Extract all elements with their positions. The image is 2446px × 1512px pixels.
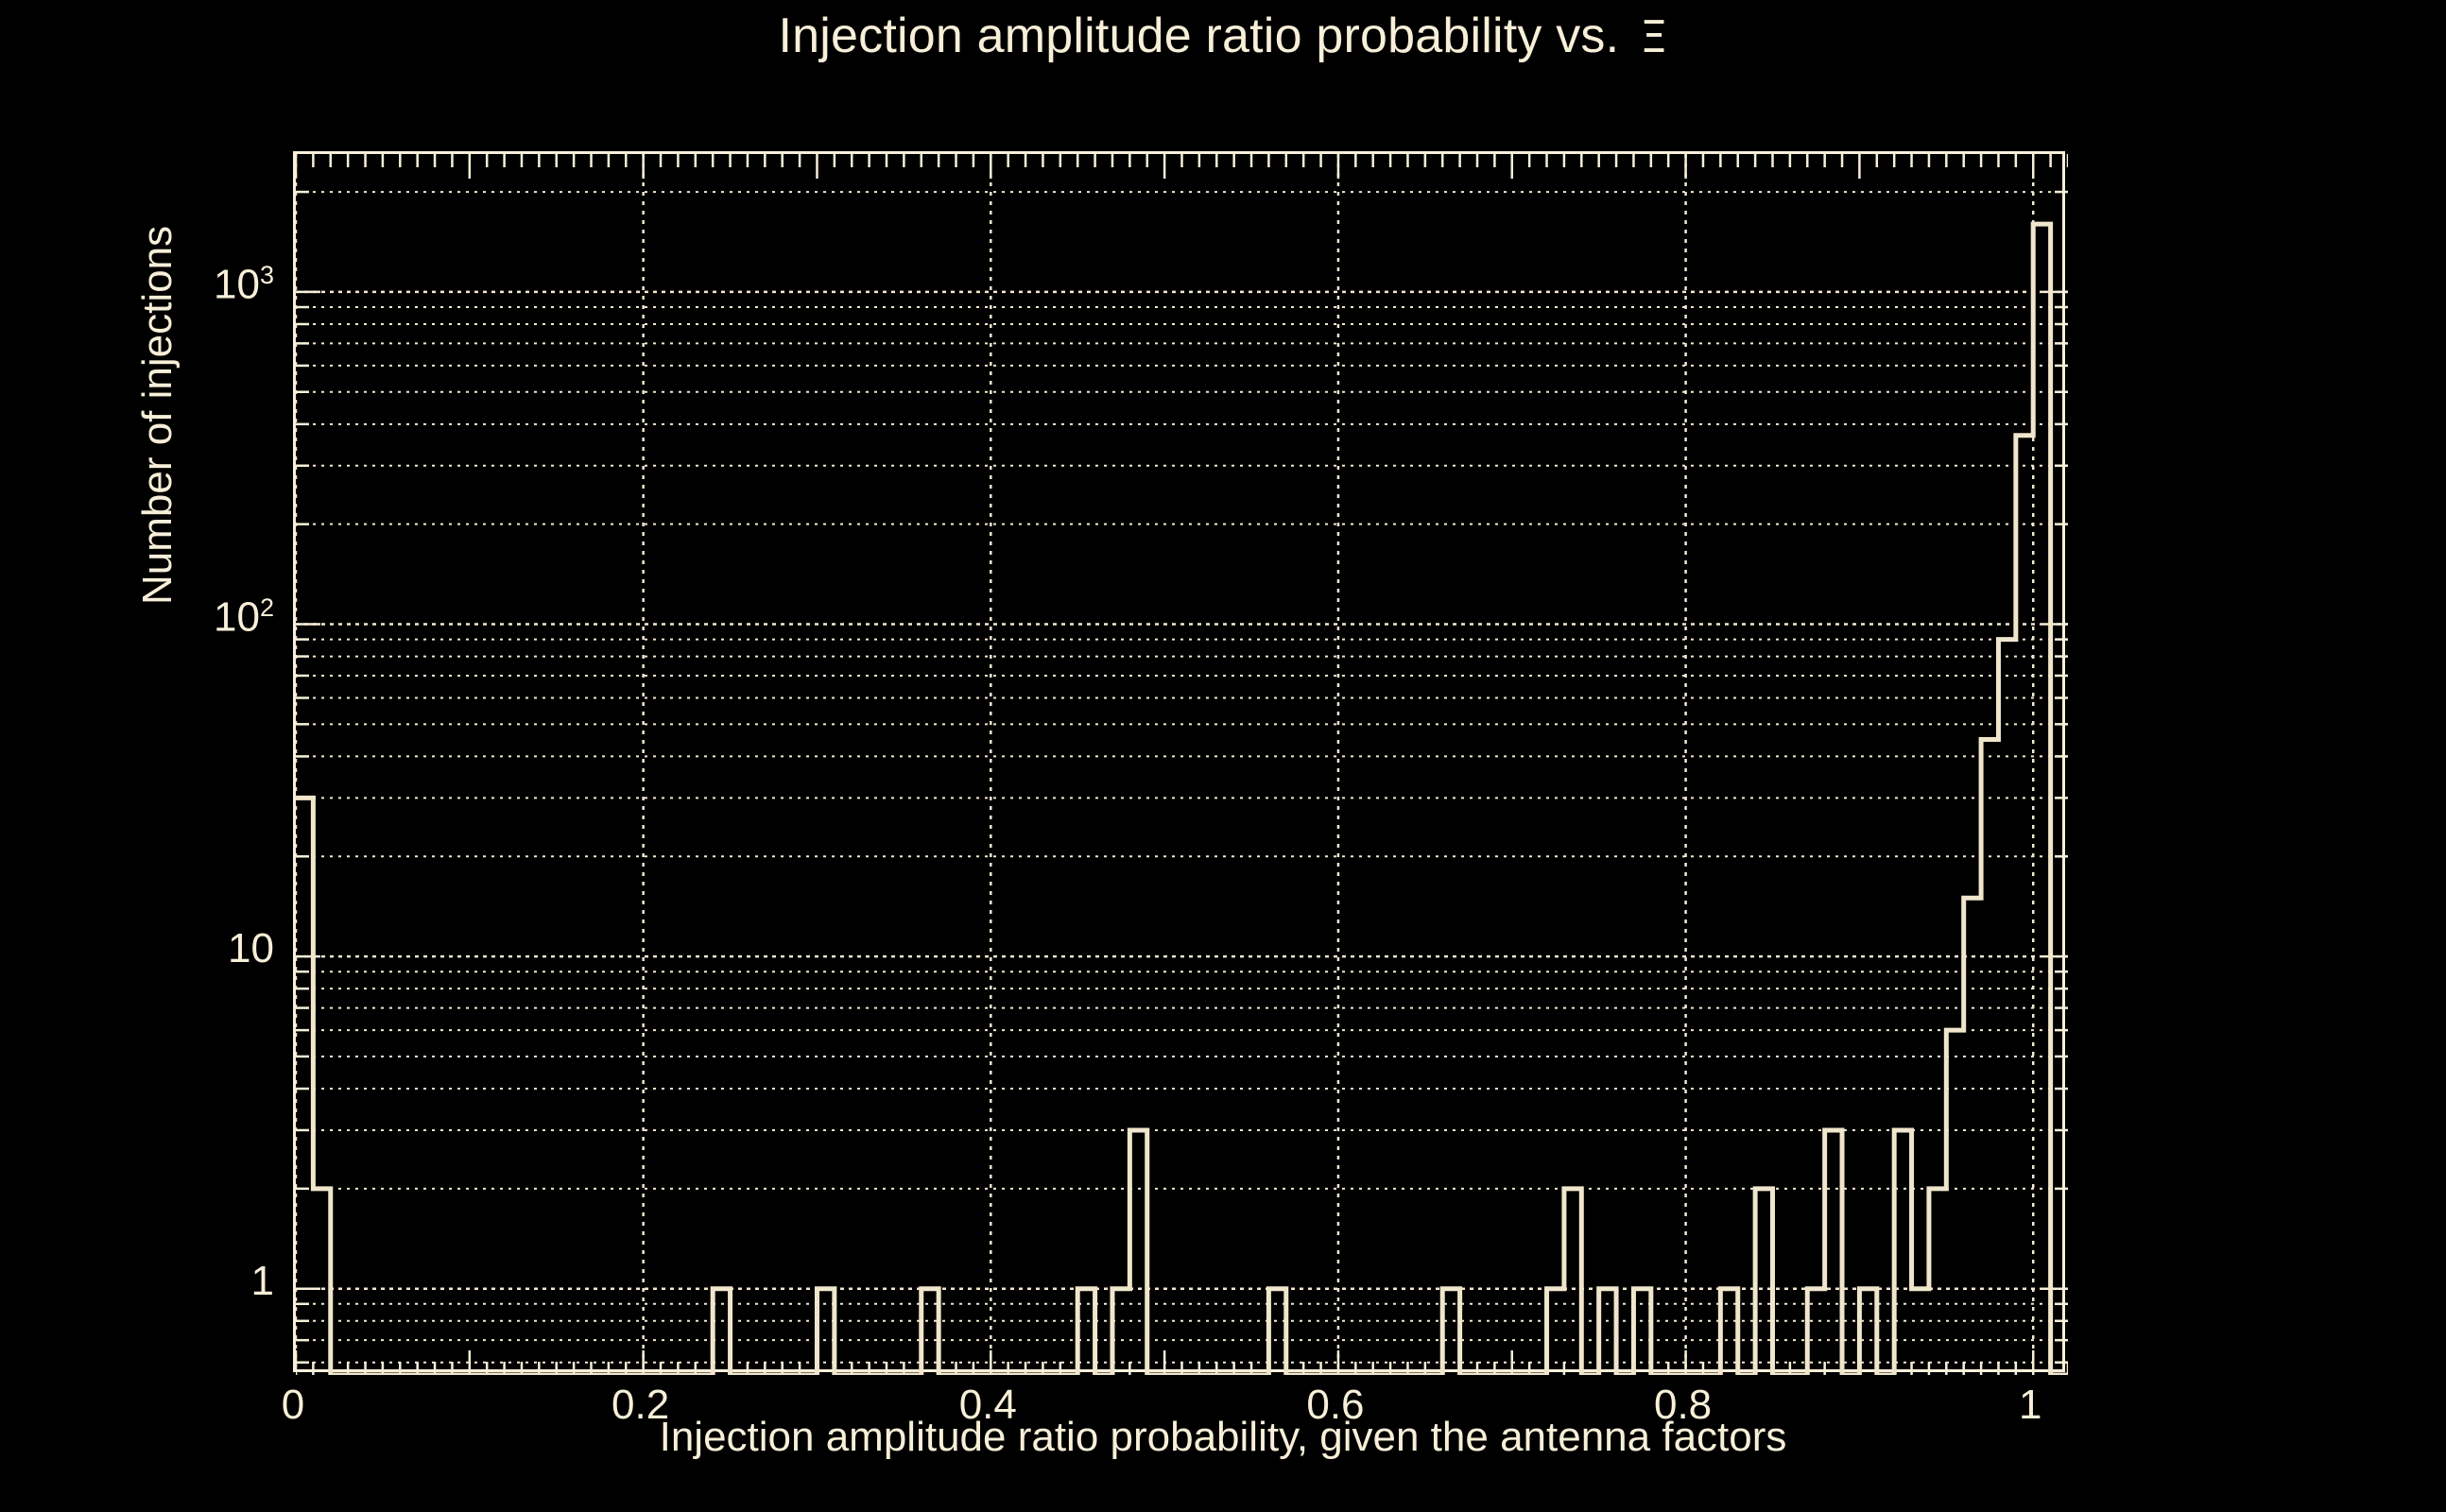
y-tick-label-1: 1 (161, 1258, 274, 1305)
x-tick-label-0.2: 0.2 (575, 1382, 707, 1429)
x-tick-label-0.4: 0.4 (922, 1382, 1054, 1429)
chart-title-text: Injection amplitude ratio probability vs… (778, 9, 1619, 63)
chart-canvas: Injection amplitude ratio probability vs… (0, 0, 2446, 1512)
chart-title-xi-symbol: Ξ (1619, 11, 1667, 62)
x-tick-label-0.6: 0.6 (1269, 1382, 1402, 1429)
axis-tick-marks (296, 154, 2068, 1375)
chart-title: Injection amplitude ratio probability vs… (0, 8, 2446, 64)
y-tick-label-10: 10 (161, 925, 274, 972)
plot-frame (293, 151, 2065, 1372)
plot-area (296, 154, 2068, 1375)
histogram-step-line (296, 224, 2068, 1375)
gridlines (296, 154, 2068, 1375)
x-tick-label-0: 0 (227, 1382, 359, 1429)
y-tick-label-100: 102 (161, 593, 274, 642)
y-tick-label-1000: 103 (161, 261, 274, 309)
x-tick-label-1: 1 (1964, 1382, 2096, 1429)
x-tick-label-0.8: 0.8 (1617, 1382, 1749, 1429)
